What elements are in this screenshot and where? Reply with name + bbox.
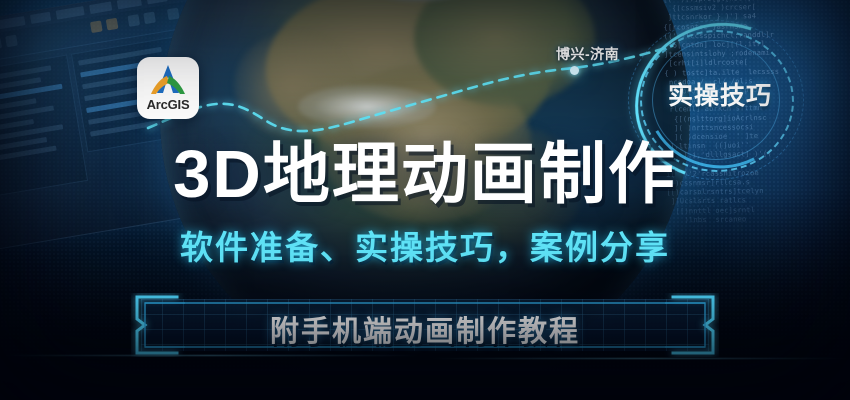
page-subtitle: 软件准备、实操技巧，案例分享 <box>0 231 850 264</box>
light-streak <box>0 355 420 356</box>
page-title: 3D地理动画制作 <box>0 141 850 208</box>
route-endpoint-marker <box>570 66 579 75</box>
promo-poster: 博兴-济南 [( ')[:]pro{gl[nsel]odr {(cssmsiv2… <box>0 0 850 400</box>
banner-label: 附手机端动画制作教程 <box>131 308 719 350</box>
arcgis-mark-icon <box>146 63 190 99</box>
arcgis-logo: ArcGIS <box>137 57 199 119</box>
arcgis-logo-wordmark: ArcGIS <box>137 97 199 112</box>
badge-label: 实操技巧 <box>626 76 814 112</box>
light-streak <box>430 358 850 359</box>
bottom-banner: 附手机端动画制作教程 <box>131 293 719 357</box>
route-label: 博兴-济南 <box>556 44 619 64</box>
